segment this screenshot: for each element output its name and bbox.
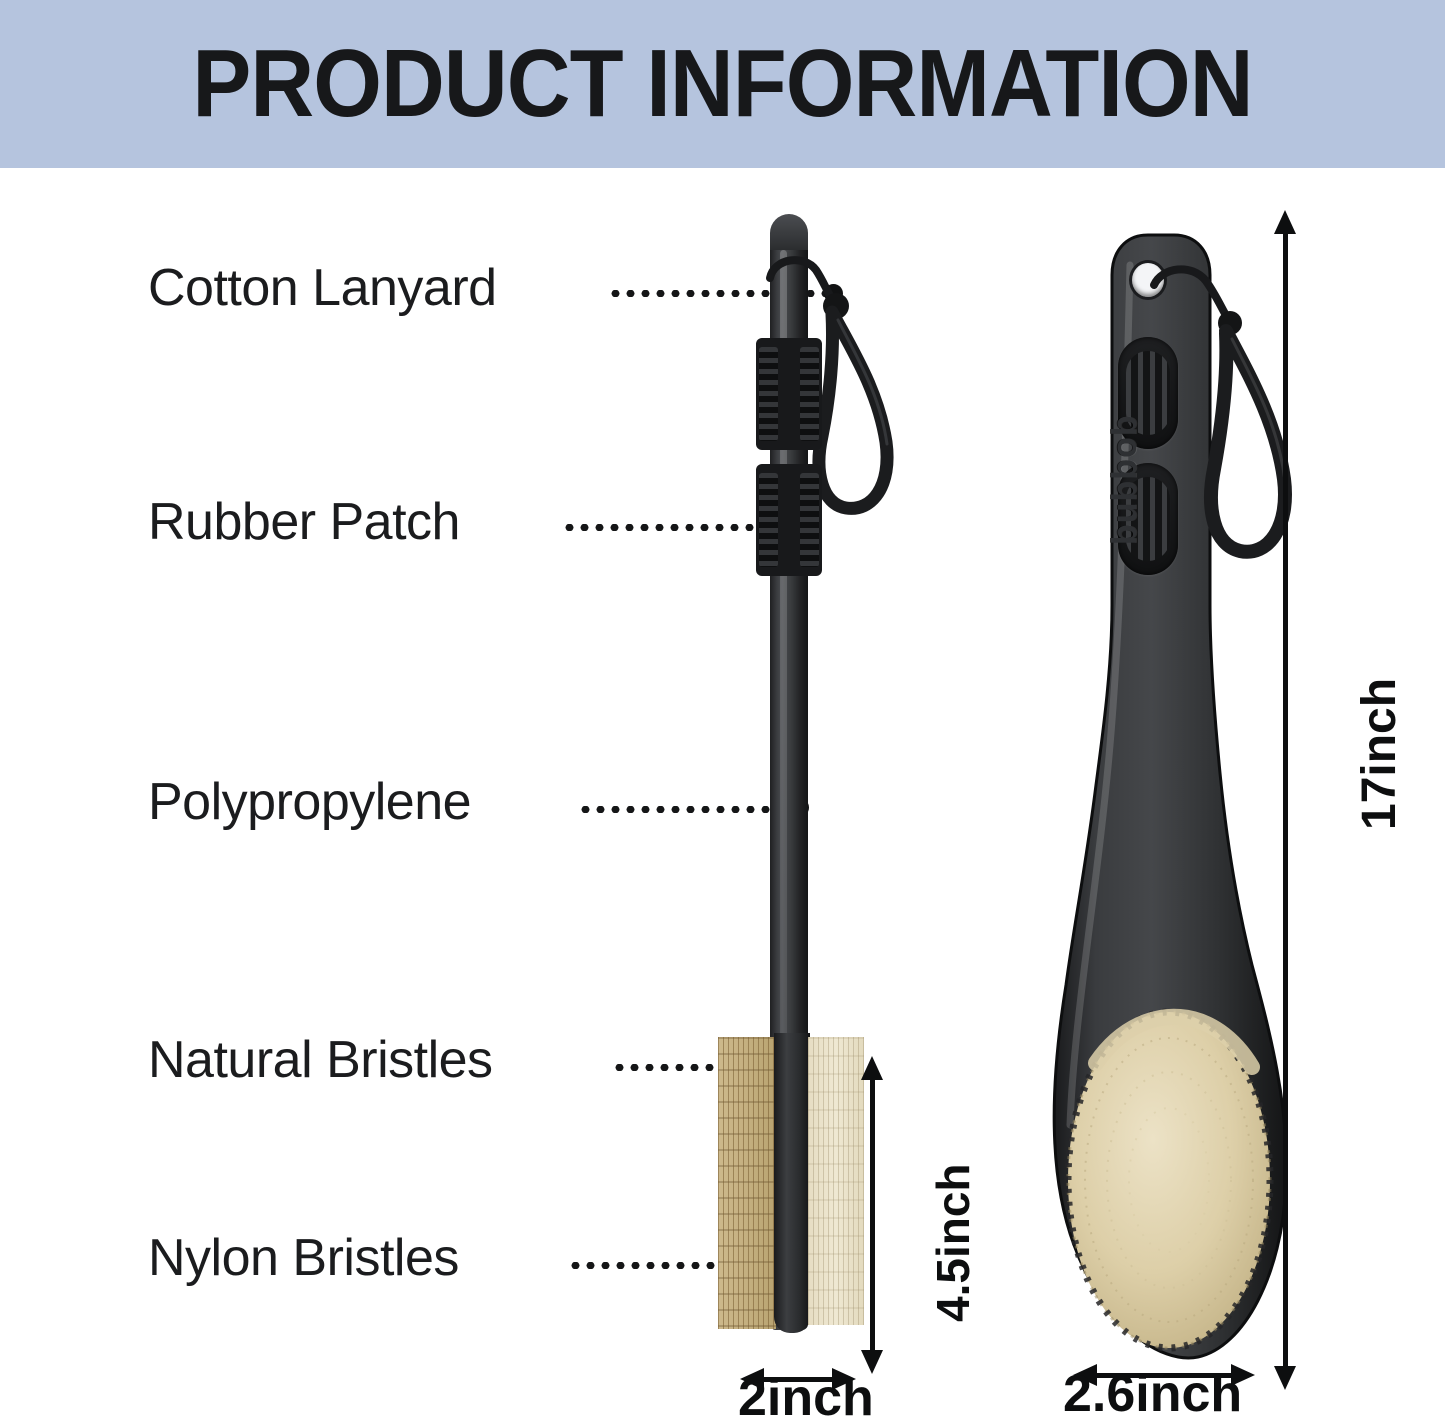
page-title: PRODUCT INFORMATION	[58, 0, 1387, 168]
callout-label-rubber-patch: Rubber Patch	[148, 492, 460, 552]
dimension-arrow-up-total-length	[1274, 210, 1296, 234]
dimension-label-head-length: 4.5inch	[926, 1163, 980, 1322]
side-view-bristle-head	[718, 1033, 864, 1333]
dimension-arrow-up-head-length	[861, 1056, 883, 1080]
side-view-rubber-patch-upper	[756, 338, 822, 450]
callout-label-nylon-bristles: Nylon Bristles	[148, 1228, 459, 1288]
dimension-label-total-length: 17inch	[1352, 678, 1407, 830]
side-view-head-spine	[774, 1033, 810, 1333]
callout-label-natural-bristles: Natural Bristles	[148, 1030, 493, 1090]
dimension-line-total-length	[1283, 232, 1288, 1366]
side-view-brush	[700, 210, 930, 1370]
callout-label-polypropylene: Polypropylene	[148, 772, 471, 832]
product-information-infographic: PRODUCT INFORMATION Cotton Lanyard Rubbe…	[0, 0, 1445, 1426]
side-view-rubber-patch-lower	[756, 464, 822, 576]
dimension-line-head-length	[870, 1078, 875, 1350]
dimension-label-head-width-front: 2.6inch	[1063, 1364, 1242, 1424]
dimension-arrow-down-total-length	[1274, 1366, 1296, 1390]
callout-label-cotton-lanyard: Cotton Lanyard	[148, 258, 497, 318]
dimension-label-head-width-side: 2inch	[738, 1368, 874, 1426]
front-view-cotton-lanyard	[1140, 261, 1330, 591]
front-view-brush: bubbob	[1030, 225, 1310, 1375]
side-view-nylon-bristles	[808, 1037, 864, 1325]
side-view-natural-bristles	[718, 1037, 776, 1329]
